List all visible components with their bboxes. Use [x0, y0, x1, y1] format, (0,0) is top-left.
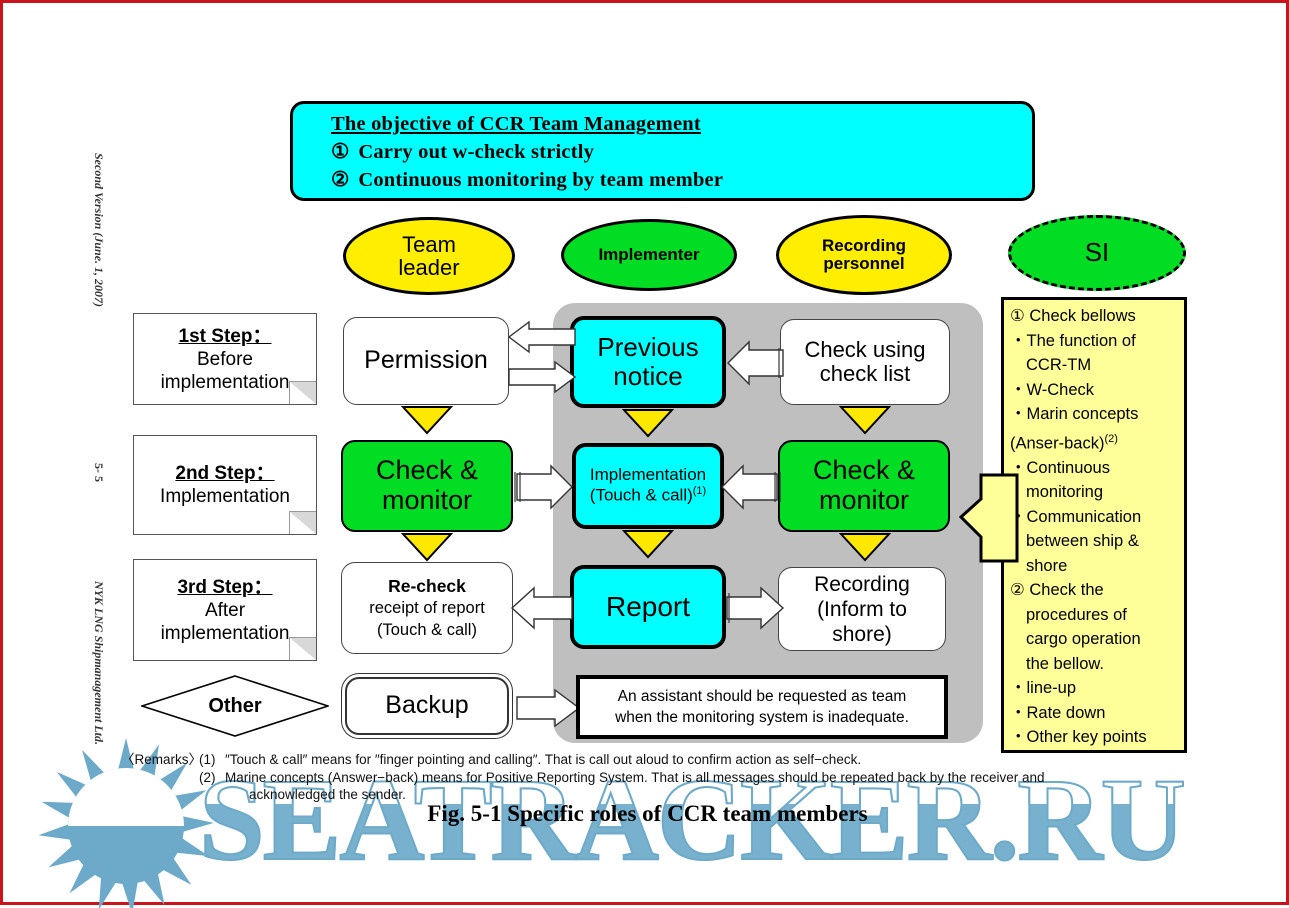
si-line: ・Continuous	[1010, 456, 1180, 481]
side-label-version: Second Version (June. 1, 2007)	[91, 153, 106, 307]
dogear-corner-icon	[289, 637, 316, 660]
si-line: ① Check bellows	[1010, 304, 1180, 329]
objective-text-1: Carry out w-check strictly	[358, 141, 594, 163]
other-diamond-label: Other	[141, 675, 329, 737]
role-team-leader-label: Teamleader	[398, 233, 459, 279]
arrow-previous-notice-to-permission	[507, 321, 577, 363]
document-page: Second Version (June. 1, 2007) 5- 5 NYK …	[0, 0, 1289, 905]
role-ellipse-si: SI	[1008, 215, 1186, 291]
assistant-note-line-1: An assistant should be requested as team	[618, 686, 907, 707]
arrow-check-monitor-left-to-implementation	[511, 464, 575, 510]
si-line: (Anser-back)(2)	[1010, 427, 1180, 456]
arrow-down-check-list	[839, 405, 891, 435]
si-line: ・line-up	[1010, 676, 1180, 701]
si-line: ・The function of	[1010, 329, 1180, 354]
si-line: monitoring	[1010, 480, 1180, 505]
remarks-num-1: (1)	[199, 751, 225, 769]
objective-item-2: ② Continuous monitoring by team member	[331, 166, 1032, 194]
remarks-block: 〈Remarks〉 (1) ″Touch & call″ means for ″…	[121, 751, 1201, 804]
report-label: Report	[606, 592, 690, 623]
si-line: ・Other key points	[1010, 725, 1180, 750]
role-si-label: SI	[1085, 239, 1110, 266]
recording-line-2: (Inform to	[817, 597, 907, 622]
arrow-down-permission	[401, 405, 453, 435]
arrow-si-panel-to-flow	[959, 465, 1019, 569]
arrow-down-implementation	[622, 529, 674, 559]
remarks-spacer	[121, 769, 199, 787]
remarks-row-2: (2) Marine concepts (Answer−back) means …	[121, 769, 1201, 787]
si-line: cargo operation	[1010, 627, 1180, 652]
flow-box-recheck: Re-check receipt of report (Touch & call…	[341, 562, 513, 654]
flow-box-report: Report	[570, 565, 726, 649]
arrow-report-to-recording	[723, 585, 785, 631]
flow-box-check-monitor-right: Check &monitor	[778, 440, 950, 532]
check-using-list-label: Check usingcheck list	[804, 338, 925, 386]
si-line: shore	[1010, 554, 1180, 579]
arrow-down-previous-notice	[622, 408, 674, 438]
remarks-text-2: Marine concepts (Answer−back) means for …	[225, 769, 1045, 787]
backup-label: Backup	[385, 692, 468, 720]
si-line: ・Communication	[1010, 505, 1180, 530]
si-footnote-marker: (2)	[1104, 433, 1117, 445]
si-line: ・Marin concepts	[1010, 402, 1180, 427]
flow-box-permission: Permission	[343, 317, 509, 405]
recheck-line-3: (Touch & call)	[377, 619, 477, 641]
si-line: ② Check the	[1010, 578, 1180, 603]
arrow-backup-to-assistant-note	[515, 689, 581, 727]
role-ellipse-implementer: Implementer	[561, 219, 737, 291]
permission-label: Permission	[364, 347, 488, 375]
remarks-text-1: ″Touch & call″ means for ″finger pointin…	[225, 751, 861, 769]
si-line: between ship &	[1010, 529, 1180, 554]
objective-num-2: ②	[331, 166, 353, 194]
objective-item-1: ① Carry out w-check strictly	[331, 138, 1032, 166]
si-line: the bellow.	[1010, 652, 1180, 677]
flow-box-backup: Backup	[345, 677, 509, 735]
flow-box-check-monitor-left: Check &monitor	[341, 440, 513, 532]
role-recording-personnel-label: Recordingpersonnel	[822, 237, 906, 273]
objective-title: The objective of CCR Team Management	[331, 110, 1032, 138]
arrow-check-monitor-right-to-implementation	[721, 464, 783, 510]
implementation-footnote-marker: (1)	[693, 485, 706, 497]
flow-box-check-using-list: Check usingcheck list	[780, 319, 950, 405]
step-box-1: 1st Step： Before implementation	[133, 313, 317, 405]
role-ellipse-team-leader: Teamleader	[343, 217, 515, 295]
side-label-company: NYK LNG Shipmanagement Ltd.	[91, 581, 106, 745]
recording-line-3: shore)	[832, 622, 892, 647]
step-3-head: 3rd Step：	[177, 576, 272, 599]
side-label-pagenum: 5- 5	[91, 463, 106, 482]
role-ellipse-recording-personnel: Recordingpersonnel	[776, 215, 952, 295]
flow-box-recording: Recording (Inform to shore)	[778, 567, 946, 651]
si-line: CCR-TM	[1010, 353, 1180, 378]
objective-text-2: Continuous monitoring by team member	[358, 169, 723, 191]
recheck-line-2: receipt of report	[369, 597, 485, 619]
step-3-line-2: implementation	[161, 622, 290, 645]
arrow-check-list-to-previous-notice	[725, 340, 787, 386]
dogear-corner-icon	[289, 381, 316, 404]
recording-line-1: Recording	[814, 572, 910, 597]
step-3-line-1: After	[205, 599, 245, 622]
recheck-title: Re-check	[388, 575, 466, 597]
si-line: procedures of	[1010, 603, 1180, 628]
check-monitor-left-label: Check &monitor	[376, 456, 478, 515]
step-1-line-1: Before	[197, 348, 253, 371]
arrow-down-check-monitor-left	[401, 532, 453, 562]
implementation-label: Implementation (Touch & call)(1)	[590, 466, 706, 505]
previous-notice-label: Previousnotice	[597, 333, 698, 390]
remarks-label: 〈Remarks〉	[121, 751, 199, 769]
si-checklist-panel: ① Check bellows ・The function of CCR-TM …	[1001, 297, 1187, 753]
flow-box-implementation: Implementation (Touch & call)(1)	[572, 443, 724, 529]
flow-box-previous-notice: Previousnotice	[570, 316, 726, 408]
assistant-note-box: An assistant should be requested as team…	[576, 675, 948, 739]
si-line: ・W-Check	[1010, 378, 1180, 403]
check-monitor-right-label: Check &monitor	[813, 456, 915, 515]
step-box-3: 3rd Step： After implementation	[133, 559, 317, 661]
step-2-line-1: Implementation	[160, 485, 290, 508]
si-line: ・Rate down	[1010, 701, 1180, 726]
dogear-corner-icon	[289, 511, 316, 534]
objective-banner: The objective of CCR Team Management ① C…	[290, 101, 1035, 201]
arrow-report-to-recheck	[510, 585, 574, 631]
step-1-line-2: implementation	[161, 371, 290, 394]
assistant-note-line-2: when the monitoring system is inadequate…	[615, 707, 909, 728]
other-diamond: Other	[141, 675, 329, 737]
remarks-row-1: 〈Remarks〉 (1) ″Touch & call″ means for ″…	[121, 751, 1201, 769]
step-box-2: 2nd Step： Implementation	[133, 435, 317, 535]
role-implementer-label: Implementer	[598, 246, 699, 264]
figure-caption: Fig. 5-1 Specific roles of CCR team memb…	[3, 801, 1289, 827]
arrow-down-check-monitor-right	[839, 532, 891, 562]
objective-num-1: ①	[331, 138, 353, 166]
step-2-head: 2nd Step：	[175, 462, 274, 485]
remarks-num-2: (2)	[199, 769, 225, 787]
step-1-head: 1st Step：	[179, 325, 272, 348]
arrow-permission-to-previous-notice	[507, 361, 577, 403]
